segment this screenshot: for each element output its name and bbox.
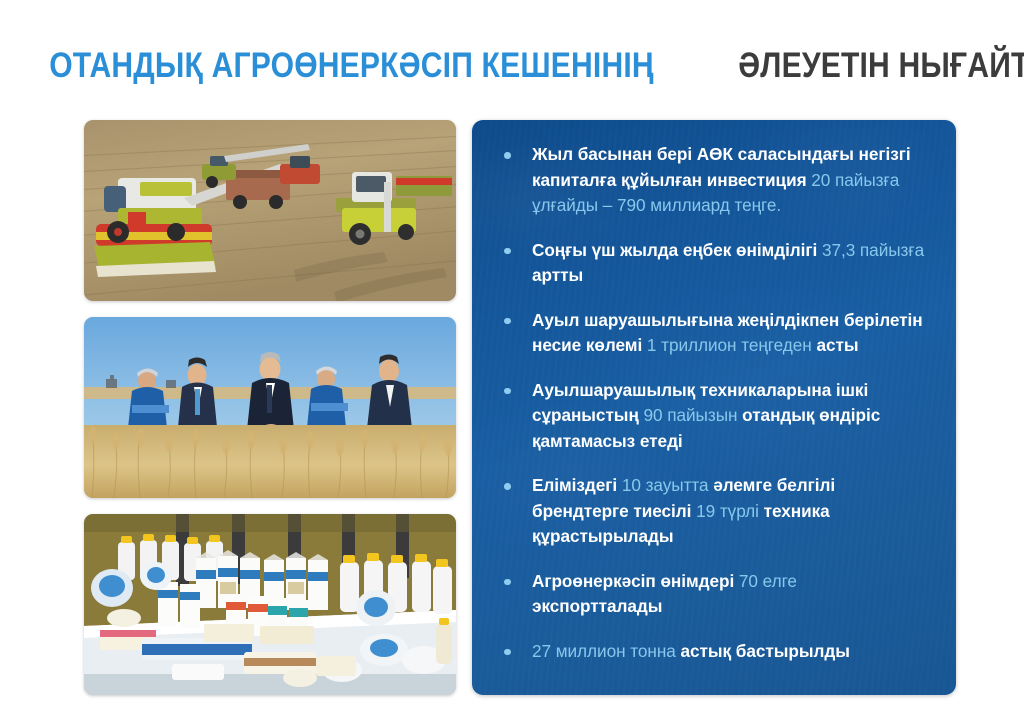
page-title: ОТАНДЫҚ АГРОӨНЕРКӘСІП КЕШЕНІНІҢ ӘЛЕУЕТІН… [0,44,1024,88]
photo-combine-harvesters-in-wheat-field [84,120,456,301]
photo-dairy-products-display [84,514,456,695]
photo-officials-and-workers-in-wheat-field [84,317,456,498]
statistic-bullet-3: Ауыл шаруашылығына жеңілдікпен берілетін… [502,308,930,359]
bullet-point-icon [504,318,511,325]
bullet-text-segment: 70 елге [739,571,797,591]
statistics-bullet-list: Жыл басынан бері АӨК саласындағы негізгі… [472,120,956,695]
page-title-primary: ОТАНДЫҚ АГРОӨНЕРКӘСІП КЕШЕНІНІҢ [49,44,654,88]
officials-in-field-illustration [84,317,456,498]
combine-harvester-illustration [84,120,456,301]
bullet-text-segment: 10 зауытта [622,475,713,495]
bullet-text-segment: 90 пайызын [644,405,743,425]
bullet-point-icon [504,483,511,490]
dairy-products-illustration [84,514,456,695]
bullet-text-segment: Соңғы үш жылда еңбек өнімділігі [532,240,822,260]
statistics-panel: Жыл басынан бері АӨК саласындағы негізгі… [472,120,956,695]
photo-column [84,120,456,695]
statistic-bullet-2: Соңғы үш жылда еңбек өнімділігі 37,3 пай… [502,238,930,289]
bullet-text-segment: 37,3 пайызға [822,240,924,260]
statistic-bullet-1: Жыл басынан бері АӨК саласындағы негізгі… [502,142,930,219]
bullet-point-icon [504,388,511,395]
statistic-bullet-4: Ауылшаруашылық техникаларына ішкі сұраны… [502,378,930,455]
bullet-text-segment: Агроөнеркәсіп өнімдері [532,571,739,591]
bullet-text-segment: экспортталады [532,596,662,616]
bullet-text-segment: 1 триллион теңгеден [647,335,817,355]
bullet-text-segment: 19 түрлі [696,501,764,521]
bullet-point-icon [504,248,511,255]
bullet-text-segment: астық бастырылды [681,641,850,661]
bullet-point-icon [504,579,511,586]
bullet-text-segment: 27 миллион тонна [532,641,681,661]
page-title-secondary: ӘЛЕУЕТІН НЫҒАЙТУ [738,44,1024,88]
statistic-bullet-6: Агроөнеркәсіп өнімдері 70 елге экспортта… [502,569,930,620]
bullet-point-icon [504,649,511,656]
bullet-text-segment: Еліміздегі [532,475,622,495]
statistic-bullet-7: 27 миллион тонна астық бастырылды [502,639,930,665]
bullet-text-segment: асты [816,335,858,355]
bullet-text-segment: артты [532,265,583,285]
statistic-bullet-5: Еліміздегі 10 зауытта әлемге белгілі бре… [502,473,930,550]
bullet-point-icon [504,152,511,159]
